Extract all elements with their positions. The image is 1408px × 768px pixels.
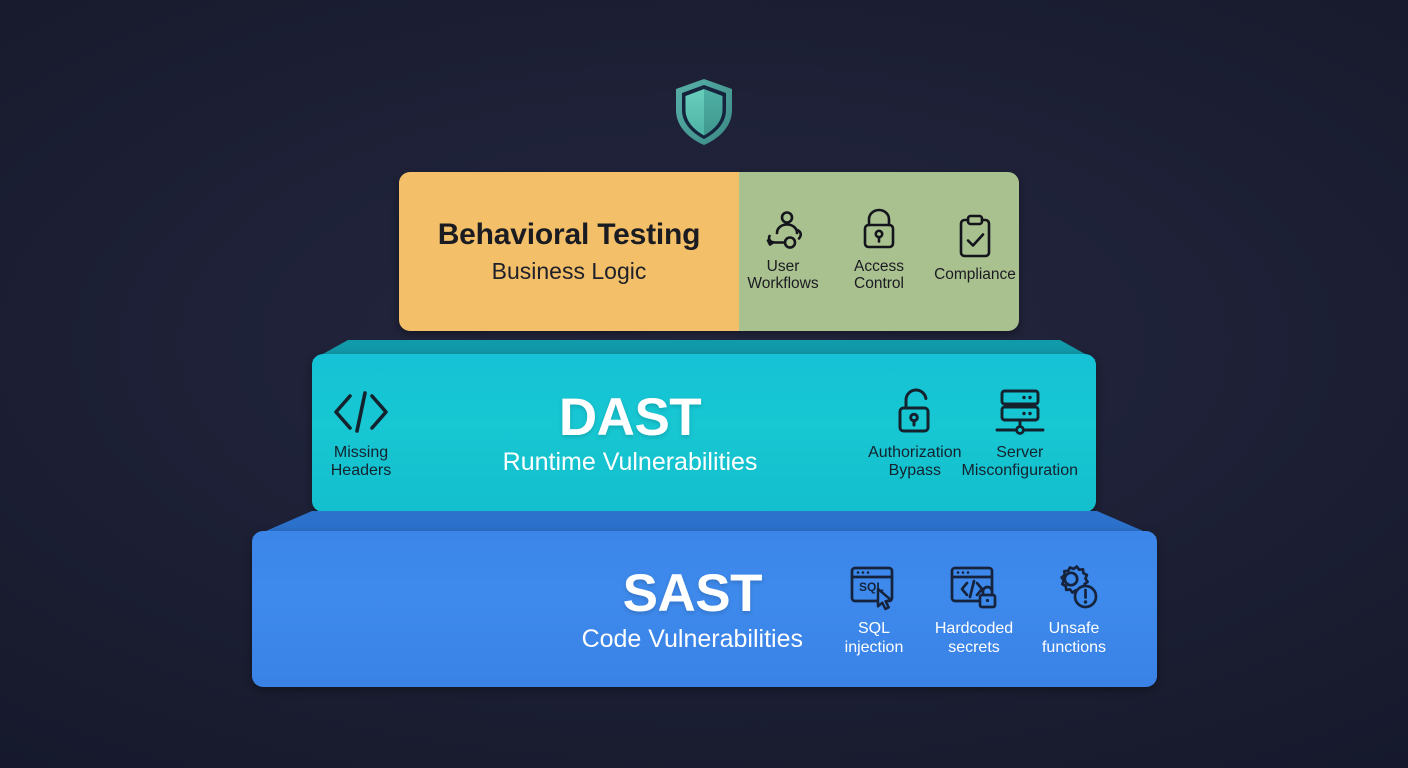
item-server-misconfiguration[interactable]: Server Misconfiguration (962, 386, 1079, 480)
item-hardcoded-secrets-label: Hardcoded secrets (935, 620, 1013, 656)
tier-sast-body: SAST Code Vulnerabilities SQL (252, 531, 1157, 687)
item-sql-injection[interactable]: SQL SQL injection (831, 561, 917, 656)
shield-icon (672, 76, 736, 148)
tier-sast-title: SAST (623, 567, 762, 620)
tier-sast[interactable]: SAST Code Vulnerabilities SQL (252, 511, 1157, 687)
clipboard-check-icon (955, 213, 995, 259)
sql-window-cursor-icon: SQL (848, 561, 900, 613)
item-compliance-label: Compliance (934, 266, 1016, 283)
tier-dast[interactable]: Missing Headers DAST Runtime Vulnerabili… (312, 340, 1096, 512)
lock-open-icon (892, 386, 938, 438)
code-window-lock-icon (948, 561, 1000, 613)
tier-dast-text: DAST Runtime Vulnerabilities (392, 391, 868, 475)
tier-behavioral-testing[interactable]: Behavioral Testing Business Logic (399, 172, 1019, 331)
item-missing-headers[interactable]: Missing Headers (330, 386, 392, 480)
item-sql-injection-label: SQL injection (845, 620, 904, 656)
item-authorization-bypass-label: Authorization Bypass (868, 444, 961, 480)
item-unsafe-functions-label: Unsafe functions (1042, 620, 1106, 656)
tier-behavioral-body: Behavioral Testing Business Logic (399, 172, 1019, 331)
tier-behavioral-subtitle: Business Logic (492, 260, 647, 283)
tier-behavioral-items: User Workflows Access (739, 172, 1019, 331)
item-hardcoded-secrets[interactable]: Hardcoded secrets (931, 561, 1017, 656)
tier-dast-title: DAST (559, 391, 701, 444)
user-workflow-icon (759, 205, 807, 251)
code-brackets-icon (330, 386, 392, 438)
tier-sast-text: SAST Code Vulnerabilities (582, 567, 803, 652)
tier-sast-items: SQL SQL injection (831, 561, 1117, 656)
item-access-control-label: Access Control (854, 258, 904, 293)
tier-dast-body: Missing Headers DAST Runtime Vulnerabili… (312, 354, 1096, 512)
gear-warning-icon (1048, 561, 1100, 613)
item-missing-headers-label: Missing Headers (331, 444, 391, 480)
tier-dast-subtitle: Runtime Vulnerabilities (503, 450, 758, 475)
security-pyramid-diagram: Behavioral Testing Business Logic (0, 0, 1408, 768)
item-authorization-bypass[interactable]: Authorization Bypass (868, 386, 961, 480)
lock-closed-icon (858, 205, 900, 251)
item-unsafe-functions[interactable]: Unsafe functions (1031, 561, 1117, 656)
item-access-control[interactable]: Access Control (835, 205, 923, 293)
item-user-workflows[interactable]: User Workflows (739, 205, 827, 293)
tier-behavioral-text: Behavioral Testing Business Logic (399, 172, 739, 331)
server-rack-icon (992, 386, 1048, 438)
tier-behavioral-title: Behavioral Testing (438, 220, 701, 250)
item-user-workflows-label: User Workflows (747, 258, 818, 293)
tier-sast-subtitle: Code Vulnerabilities (582, 627, 803, 652)
item-compliance[interactable]: Compliance (931, 213, 1019, 283)
item-server-misconfiguration-label: Server Misconfiguration (962, 444, 1079, 480)
